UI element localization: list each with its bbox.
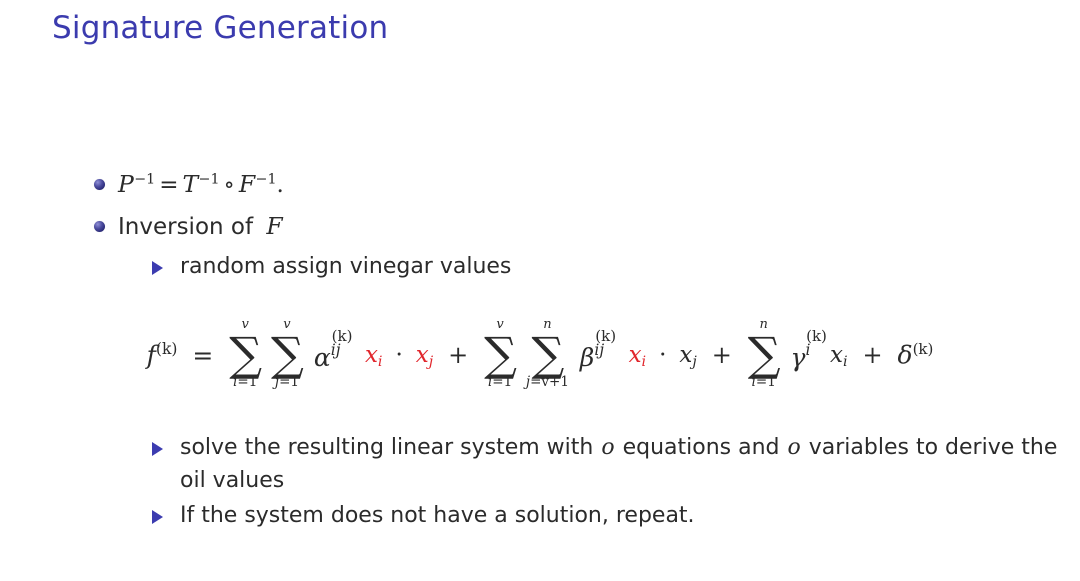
sphere-bullet-icon (94, 221, 105, 232)
list-item-random-assign-vinegar: random assign vinegar values (0, 251, 1080, 284)
variable-xi: xi (830, 344, 848, 367)
sigma-icon: ∑ (526, 333, 569, 375)
summation-3: n ∑ i=1 (748, 318, 780, 392)
exponent-p: −1 (134, 171, 155, 187)
list-item-label: solve the resulting linear system with o… (180, 435, 1057, 493)
sum-start: 1 (290, 374, 299, 390)
coefficient-alpha: α(k)ij (314, 341, 357, 370)
var-base: x (679, 342, 692, 368)
variable-xi-red: xi (629, 344, 647, 367)
sigma-icon: ∑ (229, 333, 261, 375)
list-item-inverse-composition: P−1=T−1∘F−1. (0, 168, 1080, 202)
math-var-o-2: o (787, 435, 809, 460)
var-subscript: i (378, 354, 383, 370)
sigma-icon: ∑ (271, 333, 303, 375)
list-item-solve-linear-system: solve the resulting linear system with o… (0, 432, 1080, 497)
var-subscript: j (692, 354, 696, 370)
var-base: x (365, 342, 378, 368)
sigma-icon: ∑ (748, 333, 780, 375)
sum-lower-limit: i=1 (748, 376, 780, 392)
symbol-p: P (118, 170, 134, 198)
greek-delta: δ (898, 341, 913, 370)
equation-lhs: f(k) (147, 342, 178, 367)
coefficient-beta: β(k)ij (580, 341, 621, 370)
sum-eq: = (530, 374, 541, 390)
summation-2b: n ∑ j=v+1 (526, 318, 569, 392)
delta-superscript: (k) (913, 340, 934, 358)
exponent-f: −1 (256, 171, 277, 187)
sum-lower-limit: j=v+1 (526, 376, 569, 392)
sum-start: 1 (767, 374, 776, 390)
var-base: x (416, 342, 429, 368)
summation-1b: v ∑ j=1 (271, 318, 303, 392)
greek-gamma: γ (791, 343, 806, 372)
period: . (277, 172, 284, 198)
display-equation: f(k) = v ∑ i=1 v ∑ j=1 α(k)ij xi · xj + … (0, 318, 1080, 392)
plus-operator: + (855, 341, 889, 369)
equation-inverse-composition: P−1=T−1∘F−1. (118, 172, 284, 198)
var-base: x (629, 342, 642, 368)
list-item-inversion-of-f: Inversion of F (0, 210, 1080, 244)
triangle-bullet-icon (152, 510, 163, 524)
sum-lower-limit: i=1 (484, 376, 516, 392)
sum-start: 1 (249, 374, 258, 390)
sum-eq: = (237, 374, 248, 390)
triangle-bullet-icon (152, 261, 163, 275)
variable-xj-red: xj (416, 344, 433, 367)
var-subscript: i (843, 354, 848, 370)
lhs-base: f (147, 341, 156, 370)
lhs-superscript: (k) (156, 340, 178, 358)
list-item-label: If the system does not have a solution, … (180, 503, 695, 528)
sum-eq: = (279, 374, 290, 390)
list-item-label: random assign vinegar values (180, 254, 511, 279)
var-subscript: i (642, 354, 647, 370)
equals-sign: = (155, 172, 182, 198)
sphere-bullet-icon (94, 179, 105, 190)
symbol-f: F (266, 212, 283, 240)
composition-operator: ∘ (220, 172, 239, 198)
variable-xj: xj (679, 344, 696, 367)
constant-delta: δ(k) (898, 342, 934, 367)
sum-lower-limit: j=1 (271, 376, 303, 392)
dot-operator: · (654, 342, 671, 368)
text-segment-1: solve the resulting linear system with (180, 435, 600, 460)
text-segment-2: equations and (623, 435, 787, 460)
greek-alpha: α (314, 343, 331, 372)
coefficient-gamma: γ(k)i (791, 341, 822, 370)
sigma-icon: ∑ (484, 333, 516, 375)
triangle-bullet-icon (152, 442, 163, 456)
bullet-list-lower: solve the resulting linear system with o… (0, 432, 1080, 536)
list-item-repeat-if-no-solution: If the system does not have a solution, … (0, 500, 1080, 533)
var-subscript: j (429, 354, 433, 370)
sum-eq: = (756, 374, 767, 390)
sum-lower-limit: i=1 (229, 376, 261, 392)
plus-operator: + (705, 341, 739, 369)
summation-2a: v ∑ i=1 (484, 318, 516, 392)
slide-canvas: Signature Generation P−1=T−1∘F−1. Invers… (0, 0, 1080, 581)
beta-subscript: ij (594, 343, 604, 359)
exponent-t: −1 (199, 171, 220, 187)
equation-relation: = (185, 343, 220, 368)
greek-beta: β (580, 343, 594, 372)
sum-start: v+1 (541, 374, 569, 390)
math-var-o-1: o (600, 435, 622, 460)
symbol-t: T (182, 170, 198, 198)
dot-operator: · (390, 342, 407, 368)
symbol-f: F (239, 170, 256, 198)
bullet-list: P−1=T−1∘F−1. Inversion of F random assig… (0, 168, 1080, 287)
page-title: Signature Generation (52, 10, 388, 46)
alpha-subscript: ij (331, 343, 341, 359)
list-item-label: Inversion of (118, 214, 253, 240)
plus-operator: + (441, 341, 475, 369)
gamma-subscript: i (806, 343, 811, 359)
summation-1a: v ∑ i=1 (229, 318, 261, 392)
sum-eq: = (492, 374, 503, 390)
variable-xi-red: xi (365, 344, 383, 367)
sum-start: 1 (504, 374, 513, 390)
var-base: x (830, 342, 843, 368)
